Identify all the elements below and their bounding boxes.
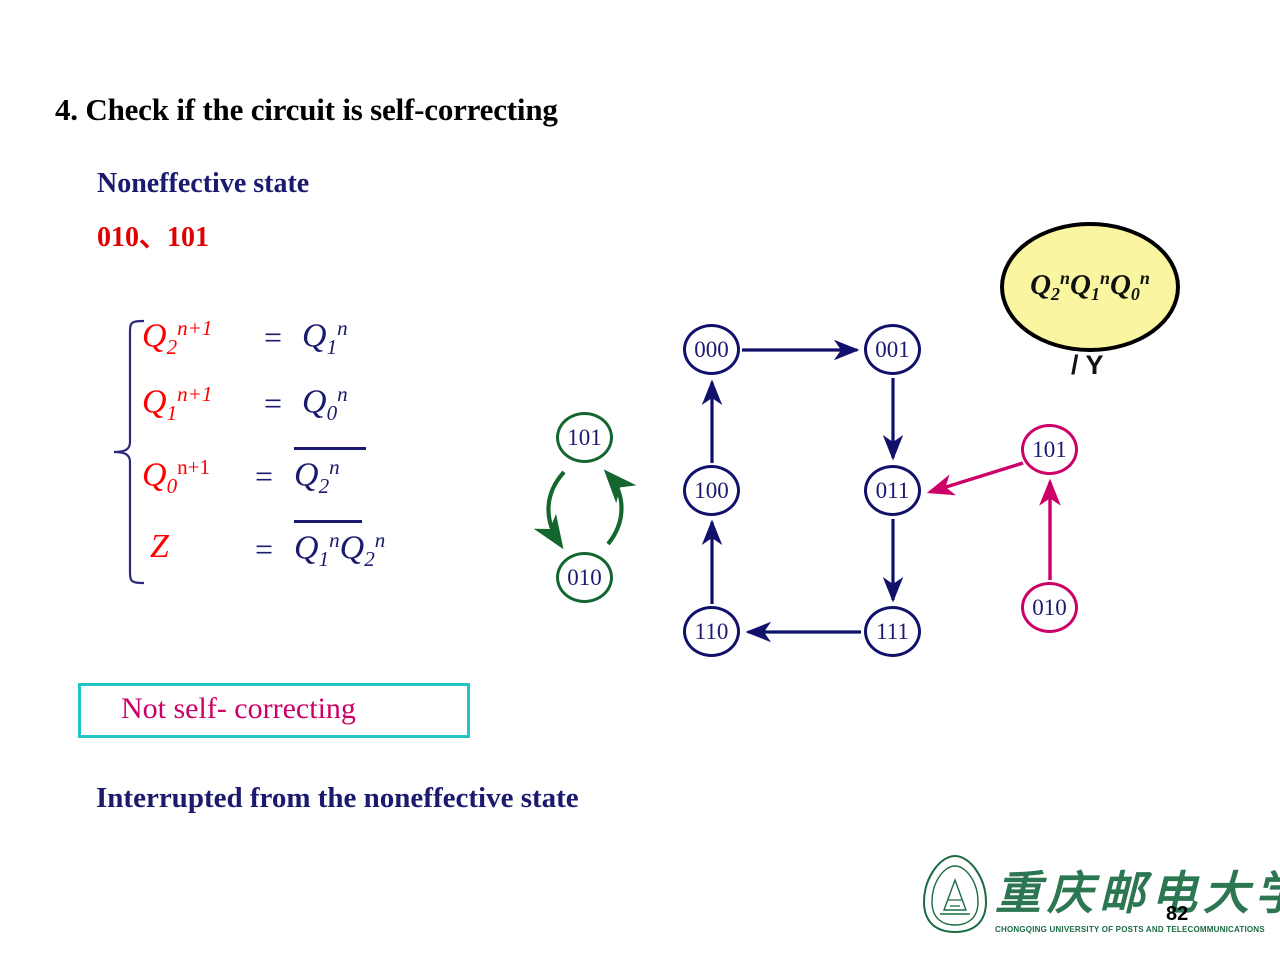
equation-4-equals: = bbox=[255, 531, 273, 568]
recovery-node-101[interactable]: 101 bbox=[1021, 424, 1078, 475]
output-slash-y-label: / Y bbox=[1071, 350, 1104, 381]
equation-4-lhs: Z bbox=[150, 528, 169, 566]
page-title: 4. Check if the circuit is self-correcti… bbox=[55, 92, 558, 128]
equation-1-rhs: Q1n bbox=[302, 316, 348, 360]
equation-4-overline bbox=[294, 520, 362, 523]
equation-2-lhs: Q1n+1 bbox=[142, 382, 212, 426]
equation-4-rhs: Q1nQ2n bbox=[294, 528, 385, 572]
noneffective-state-label: Noneffective state bbox=[97, 168, 309, 200]
not-self-correcting-label: Not self- correcting bbox=[121, 692, 356, 726]
state-node-011[interactable]: 011 bbox=[864, 465, 921, 516]
equation-1-lhs: Q2n+1 bbox=[142, 316, 212, 360]
not-self-correcting-box: Not self- correcting bbox=[78, 683, 470, 738]
equation-3-rhs: Q2n bbox=[294, 455, 340, 499]
equation-2-rhs: Q0n bbox=[302, 382, 348, 426]
noneffective-node-101[interactable]: 101 bbox=[556, 412, 613, 463]
equation-2-equals: = bbox=[264, 385, 282, 422]
edge-magenta-101-to-011 bbox=[930, 463, 1023, 492]
conclusion-label: Interrupted from the noneffective state bbox=[96, 782, 579, 815]
equation-group: Q2n+1 = Q1n Q1n+1 = Q0n Q0n+1 = Q2n Z = bbox=[112, 316, 452, 596]
state-encoding-bubble: Q2nQ1nQ0n bbox=[1000, 222, 1180, 352]
state-node-100[interactable]: 100 bbox=[683, 465, 740, 516]
edge-green-101-to-010 bbox=[548, 472, 564, 544]
page-number: 82 bbox=[1166, 903, 1188, 926]
state-node-label: 100 bbox=[694, 478, 729, 504]
state-node-label: 001 bbox=[875, 337, 910, 363]
state-node-label: 011 bbox=[876, 478, 910, 504]
noneffective-state-values: 010、101 bbox=[97, 215, 209, 255]
state-node-label: 000 bbox=[694, 337, 729, 363]
state-node-label: 010 bbox=[1032, 595, 1067, 621]
recovery-node-010[interactable]: 010 bbox=[1021, 582, 1078, 633]
state-encoding-label: Q2nQ1nQ0n bbox=[1030, 268, 1150, 305]
edge-green-010-to-101 bbox=[608, 474, 622, 544]
equation-3-overline bbox=[294, 447, 366, 450]
university-name-cn: 重庆邮电大学 bbox=[995, 857, 1280, 923]
state-node-label: 110 bbox=[695, 619, 729, 645]
equation-3-equals: = bbox=[255, 458, 273, 495]
state-node-label: 010 bbox=[567, 565, 602, 591]
equation-brace bbox=[110, 318, 146, 586]
state-node-001[interactable]: 001 bbox=[864, 324, 921, 375]
state-node-label: 111 bbox=[876, 619, 909, 645]
state-node-110[interactable]: 110 bbox=[683, 606, 740, 657]
noneffective-node-010[interactable]: 010 bbox=[556, 552, 613, 603]
equation-3-lhs: Q0n+1 bbox=[142, 455, 210, 499]
state-node-label: 101 bbox=[567, 425, 602, 451]
state-node-000[interactable]: 000 bbox=[683, 324, 740, 375]
state-node-label: 101 bbox=[1032, 437, 1067, 463]
university-logo-icon bbox=[918, 852, 992, 938]
state-node-111[interactable]: 111 bbox=[864, 606, 921, 657]
equation-1-equals: = bbox=[264, 319, 282, 356]
university-name-en: CHONGQING UNIVERSITY OF POSTS AND TELECO… bbox=[995, 925, 1265, 934]
